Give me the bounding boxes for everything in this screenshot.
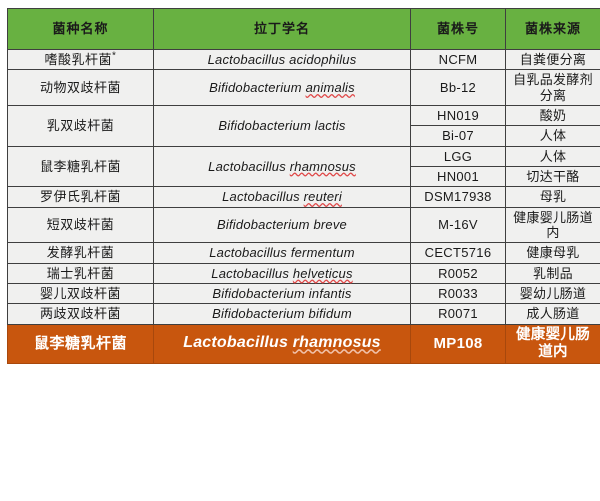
cell-species-name: 短双歧杆菌 [8, 207, 154, 243]
table-row: 乳双歧杆菌Bifidobacterium lactisHN019酸奶 [8, 105, 600, 125]
cell-species-name: 两歧双歧杆菌 [8, 304, 154, 324]
species-name-text: 乳双歧杆菌 [47, 118, 115, 133]
cell-latin-name: Bifidobacterium breve [154, 207, 411, 243]
cell-strain-number: Bi-07 [411, 126, 506, 146]
latin-name-spellcheck-text: animalis [306, 80, 355, 95]
table-row: 罗伊氏乳杆菌Lactobacillus reuteriDSM17938母乳 [8, 187, 600, 207]
cell-strain-source: 酸奶 [506, 105, 600, 125]
cell-strain-source: 人体 [506, 126, 600, 146]
latin-name-text: Lactobacillus [208, 159, 290, 174]
cell-strain-source: 乳制品 [506, 263, 600, 283]
cell-latin-name: Lactobacillus fermentum [154, 243, 411, 263]
cell-strain-source: 健康婴儿肠道内 [506, 207, 600, 243]
species-name-text: 罗伊氏乳杆菌 [40, 189, 121, 204]
latin-name-spellcheck-text: helveticus [293, 266, 353, 281]
species-name-text: 婴儿双歧杆菌 [40, 286, 121, 301]
cell-species-name: 动物双歧杆菌 [8, 70, 154, 106]
document-canvas: 菌种名称拉丁学名菌株号菌株来源 嗜酸乳杆菌*Lactobacillus acid… [0, 0, 600, 501]
table-row: 动物双歧杆菌Bifidobacterium animalisBb-12自乳品发酵… [8, 70, 600, 106]
cell-strain-source: 人体 [506, 146, 600, 166]
probiotic-strain-table: 菌种名称拉丁学名菌株号菌株来源 嗜酸乳杆菌*Lactobacillus acid… [7, 8, 600, 364]
latin-name-text: Lactobacillus fermentum [209, 245, 355, 260]
table-row: 发酵乳杆菌Lactobacillus fermentumCECT5716健康母乳 [8, 243, 600, 263]
cell-species-name: 鼠李糖乳杆菌 [8, 324, 154, 363]
species-name-text: 鼠李糖乳杆菌 [34, 335, 127, 352]
cell-strain-source: 切达干酪 [506, 166, 600, 186]
cell-strain-source: 成人肠道 [506, 304, 600, 324]
cell-latin-name: Lactobacillus acidophilus [154, 50, 411, 70]
cell-strain-number: NCFM [411, 50, 506, 70]
table-row: 婴儿双歧杆菌Bifidobacterium infantisR0033婴幼儿肠道 [8, 283, 600, 303]
cell-latin-name: Lactobacillus rhamnosus [154, 146, 411, 187]
column-header-species-name: 菌种名称 [8, 9, 154, 50]
latin-name-text: Bifidobacterium bifidum [212, 306, 352, 321]
cell-strain-number: HN019 [411, 105, 506, 125]
cell-strain-number: MP108 [411, 324, 506, 363]
cell-strain-number: Bb-12 [411, 70, 506, 106]
cell-species-name: 瑞士乳杆菌 [8, 263, 154, 283]
latin-name-spellcheck-text: rhamnosus [290, 159, 356, 174]
cell-latin-name: Bifidobacterium bifidum [154, 304, 411, 324]
latin-name-text: Bifidobacterium infantis [212, 286, 351, 301]
cell-strain-number: CECT5716 [411, 243, 506, 263]
cell-strain-source: 健康婴儿肠道内 [506, 324, 600, 363]
table-header: 菌种名称拉丁学名菌株号菌株来源 [8, 9, 600, 50]
species-name-text: 瑞士乳杆菌 [47, 266, 115, 281]
cell-species-name: 嗜酸乳杆菌* [8, 50, 154, 70]
cell-species-name: 婴儿双歧杆菌 [8, 283, 154, 303]
latin-name-text: Lactobacillus [183, 334, 293, 351]
latin-name-text: Lactobacillus [211, 266, 293, 281]
cell-strain-number: R0052 [411, 263, 506, 283]
cell-strain-source: 健康母乳 [506, 243, 600, 263]
cell-strain-number: R0033 [411, 283, 506, 303]
latin-name-text: Bifidobacterium breve [217, 217, 347, 232]
cell-strain-source: 自粪便分离 [506, 50, 600, 70]
species-name-text: 发酵乳杆菌 [47, 245, 115, 260]
table-row: 鼠李糖乳杆菌Lactobacillus rhamnosusLGG人体 [8, 146, 600, 166]
cell-species-name: 发酵乳杆菌 [8, 243, 154, 263]
cell-strain-number: HN001 [411, 166, 506, 186]
latin-name-spellcheck-text: reuteri [304, 189, 342, 204]
cell-species-name: 乳双歧杆菌 [8, 105, 154, 146]
table-row: 短双歧杆菌Bifidobacterium breveM-16V健康婴儿肠道内 [8, 207, 600, 243]
table-row: 瑞士乳杆菌Lactobacillus helveticusR0052乳制品 [8, 263, 600, 283]
species-name-text: 动物双歧杆菌 [40, 80, 121, 95]
latin-name-text: Lactobacillus [222, 189, 304, 204]
latin-name-text: Bifidobacterium lactis [218, 118, 345, 133]
cell-latin-name: Lactobacillus rhamnosus [154, 324, 411, 363]
cell-strain-number: DSM17938 [411, 187, 506, 207]
cell-latin-name: Bifidobacterium infantis [154, 283, 411, 303]
latin-name-text: Bifidobacterium [209, 80, 305, 95]
table-row: 两歧双歧杆菌Bifidobacterium bifidumR0071成人肠道 [8, 304, 600, 324]
cell-latin-name: Bifidobacterium lactis [154, 105, 411, 146]
cell-species-name: 鼠李糖乳杆菌 [8, 146, 154, 187]
cell-strain-number: R0071 [411, 304, 506, 324]
table-row: 鼠李糖乳杆菌Lactobacillus rhamnosusMP108健康婴儿肠道… [8, 324, 600, 363]
species-name-text: 鼠李糖乳杆菌 [40, 159, 121, 174]
cell-strain-source: 母乳 [506, 187, 600, 207]
column-header-strain-number: 菌株号 [411, 9, 506, 50]
table-header-row: 菌种名称拉丁学名菌株号菌株来源 [8, 9, 600, 50]
cell-latin-name: Bifidobacterium animalis [154, 70, 411, 106]
cell-strain-source: 自乳品发酵剂分离 [506, 70, 600, 106]
cell-latin-name: Lactobacillus helveticus [154, 263, 411, 283]
species-name-text: 两歧双歧杆菌 [40, 306, 121, 321]
column-header-latin-name: 拉丁学名 [154, 9, 411, 50]
latin-name-spellcheck-text: rhamnosus [293, 334, 381, 351]
cell-strain-number: LGG [411, 146, 506, 166]
species-name-text: 短双歧杆菌 [47, 217, 115, 232]
column-header-strain-source: 菌株来源 [506, 9, 600, 50]
cell-strain-source: 婴幼儿肠道 [506, 283, 600, 303]
species-name-text: 嗜酸乳杆菌 [45, 52, 113, 67]
latin-name-text: Lactobacillus acidophilus [208, 52, 357, 67]
footnote-asterisk: * [112, 51, 116, 62]
table-row: 嗜酸乳杆菌*Lactobacillus acidophilusNCFM自粪便分离 [8, 50, 600, 70]
cell-species-name: 罗伊氏乳杆菌 [8, 187, 154, 207]
table-body: 嗜酸乳杆菌*Lactobacillus acidophilusNCFM自粪便分离… [8, 50, 600, 364]
cell-strain-number: M-16V [411, 207, 506, 243]
cell-latin-name: Lactobacillus reuteri [154, 187, 411, 207]
